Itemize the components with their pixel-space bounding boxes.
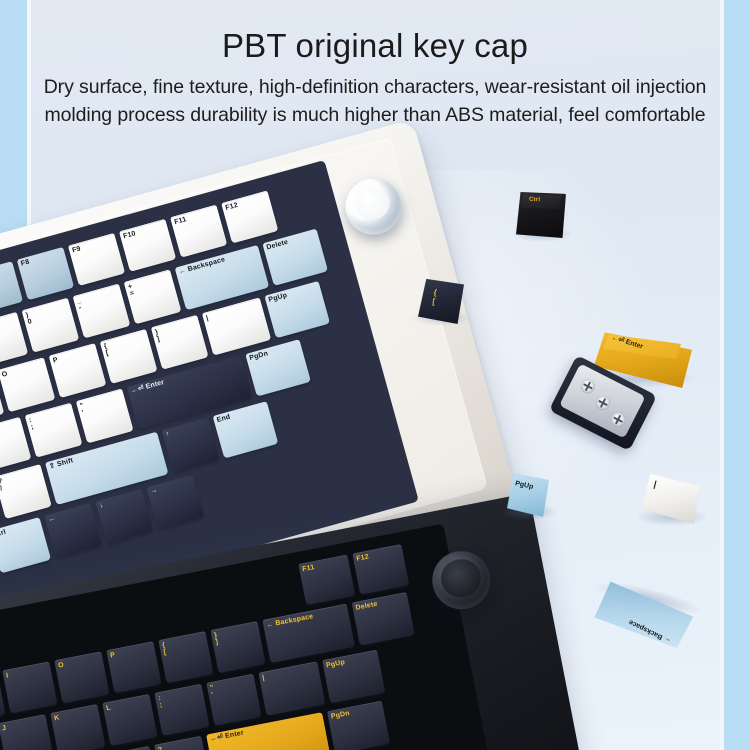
keycap-label: J xyxy=(2,725,7,733)
keycap-label: {[ xyxy=(162,642,168,656)
ctrl-keycap-face xyxy=(521,194,561,209)
keycap-label: P xyxy=(52,357,59,365)
keycap-label: P xyxy=(110,652,116,660)
keycap-label: ↑ xyxy=(165,430,170,438)
keycap-label: _- xyxy=(76,297,84,312)
keycap-label: ?/ xyxy=(0,478,6,493)
keycap-label: += xyxy=(127,283,135,298)
keycap-label: O xyxy=(58,662,65,670)
keycap[interactable]: I xyxy=(2,661,58,713)
keycap-label: L xyxy=(106,705,112,713)
page-title: PBT original key cap xyxy=(0,0,750,64)
keycap-label: K xyxy=(54,714,61,722)
keycap[interactable]: "' xyxy=(206,674,262,726)
bracket-keycap-body xyxy=(418,278,464,324)
ctrl-keycap-label: Ctrl xyxy=(529,197,540,204)
keycap-label: Delete xyxy=(355,601,378,612)
keycap-label: {[ xyxy=(103,343,110,357)
keycap-label: F10 xyxy=(123,230,137,240)
pgup-keycap: PgUp xyxy=(507,473,549,517)
bracket-keycap: {[ xyxy=(418,278,464,324)
keycap-label: :; xyxy=(158,695,163,709)
keycap-label: F12 xyxy=(225,202,239,212)
page-description: Dry surface, fine texture, high-definiti… xyxy=(0,64,750,129)
keycap-label: F11 xyxy=(174,216,188,226)
keycap-label: :; xyxy=(28,417,34,431)
keycap[interactable]: }] xyxy=(210,621,266,673)
keycap-label: PgUp xyxy=(326,659,346,670)
pipe-keycap: | xyxy=(642,474,700,524)
keycap-label: I xyxy=(6,672,9,679)
keycap-label: F11 xyxy=(302,564,315,573)
keycap[interactable]: K xyxy=(50,704,106,750)
keycap-label: }] xyxy=(154,329,161,343)
keycap[interactable]: :; xyxy=(154,684,210,736)
keycap[interactable]: P xyxy=(106,641,162,693)
keycap-label: F8 xyxy=(20,259,30,268)
keycap-label: "' xyxy=(210,684,216,698)
keycap-label: PgDn xyxy=(249,350,269,362)
keycap-label: F12 xyxy=(356,553,370,562)
keycap-label: End xyxy=(216,414,231,424)
header: PBT original key cap Dry surface, fine t… xyxy=(0,0,750,130)
keycap-label: Delete xyxy=(266,239,289,252)
keycap-label: | xyxy=(205,315,209,322)
keycap-label: PgUp xyxy=(268,292,288,304)
keycap-label: }] xyxy=(214,632,220,646)
ctrl-keycap: Ctrl xyxy=(516,192,566,238)
keycap[interactable]: O xyxy=(54,651,110,703)
keycap-label: O xyxy=(1,371,8,379)
keycap-label: "' xyxy=(79,402,86,416)
keycap-label: Ctrl xyxy=(0,529,7,539)
keycap-label: ↓ xyxy=(99,502,104,510)
keycap-label: )0 xyxy=(25,311,33,326)
keycap[interactable]: {[ xyxy=(158,631,214,683)
keycap[interactable]: L xyxy=(102,694,158,746)
keycap-label: | xyxy=(262,675,265,682)
product-image-stage: PBT original key cap Dry surface, fine t… xyxy=(0,0,750,750)
keycap-label: ?/ xyxy=(158,746,165,750)
keycap-label: ← xyxy=(48,515,57,524)
keycap-label: PgDn xyxy=(330,710,350,721)
keycap-label: → xyxy=(150,487,159,496)
keycap-label: F9 xyxy=(72,245,82,254)
